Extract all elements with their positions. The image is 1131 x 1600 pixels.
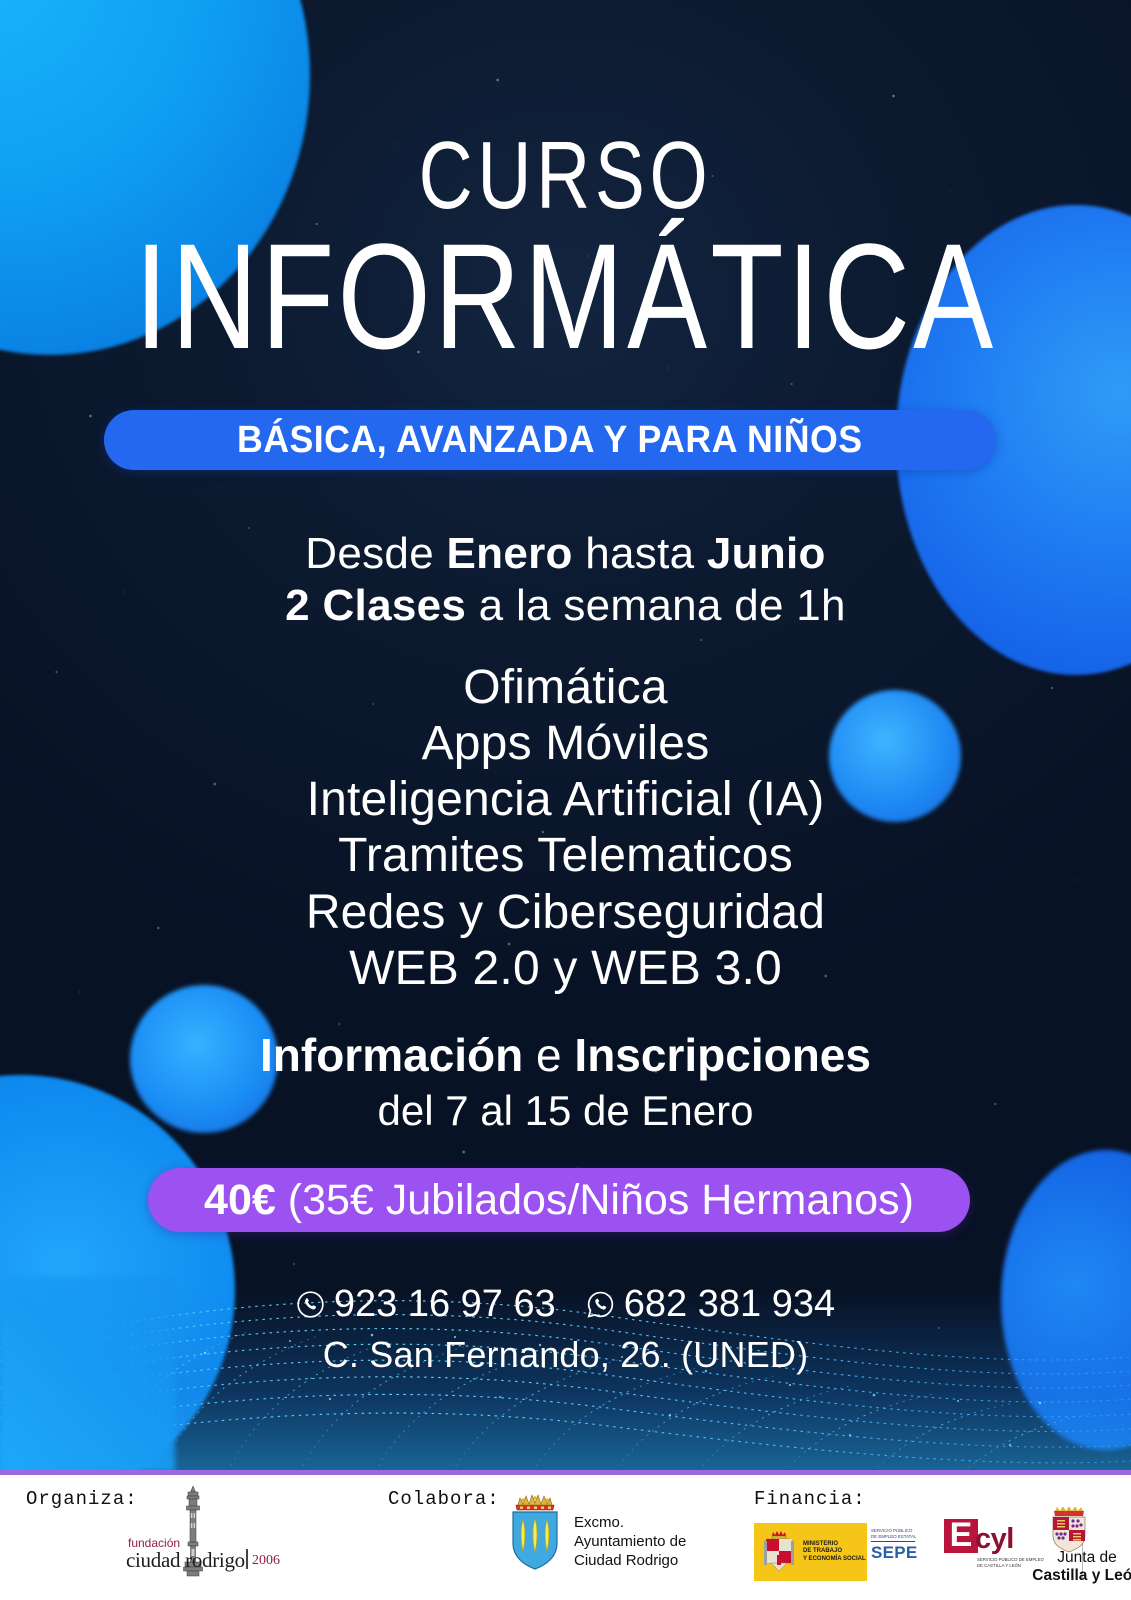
whatsapp-icon [586, 1290, 615, 1319]
junta-wordmark: Junta de Castilla y León [1012, 1549, 1131, 1586]
ayuntamiento-text: Excmo. Ayuntamiento de Ciudad Rodrigo [574, 1489, 686, 1571]
course-topic-item: WEB 2.0 y WEB 3.0 [0, 941, 1131, 997]
organiza-label: Organiza: [26, 1488, 138, 1510]
phone-number-1-text: 923 16 97 63 [334, 1283, 556, 1326]
subtitle-banner: BÁSICA, AVANZADA Y PARA NIÑOS [104, 410, 996, 470]
poster-content: CURSO INFORMÁTICA BÁSICA, AVANZADA Y PAR… [0, 0, 1131, 1472]
junta-line1: Junta de [1012, 1549, 1131, 1567]
sepe-sub-line2: DE EMPLEO ESTATAL [871, 1534, 919, 1540]
junta-castilla-leon-logo: Junta de Castilla y León [1012, 1507, 1131, 1587]
contact-block: 923 16 97 63 682 381 934 C. San Fernando… [0, 1283, 1131, 1376]
ecyl-e-letter: E [950, 1518, 973, 1552]
phone-icon [296, 1290, 325, 1319]
ministerio-trabajo-block: MINISTERIO DE TRABAJO Y ECONOMÍA SOCIAL [754, 1523, 867, 1581]
schedule-block: Desde Enero hasta Junio 2 Clases a la se… [0, 528, 1131, 632]
price-badge-text: 40€ (35€ Jubilados/Niños Hermanos) [204, 1176, 914, 1225]
ministerio-line3: Y ECONOMÍA SOCIAL [803, 1556, 866, 1564]
sepe-sub-line1: SERVICIO PÚBLICO [871, 1528, 919, 1534]
spain-coat-of-arms-icon [759, 1529, 799, 1575]
subtitle-banner-label: BÁSICA, AVANZADA Y PARA NIÑOS [237, 419, 863, 462]
logo-year-separator [246, 1549, 248, 1569]
address-text: C. San Fernando, 26. (UNED) [0, 1334, 1131, 1376]
ecyl-e-box: E [944, 1519, 978, 1553]
sponsor-footer: Organiza: [0, 1475, 1131, 1600]
junta-line2: Castilla y León [1012, 1567, 1131, 1585]
course-topic-item: Redes y Ciberseguridad [0, 885, 1131, 941]
phone-number-2[interactable]: 682 381 934 [586, 1283, 835, 1326]
coat-of-arms-icon [506, 1489, 564, 1571]
ministerio-text: MINISTERIO DE TRABAJO Y ECONOMÍA SOCIAL [803, 1541, 866, 1564]
ministerio-line2: DE TRABAJO [803, 1548, 866, 1556]
phone-number-1[interactable]: 923 16 97 63 [296, 1283, 556, 1326]
price-badge: 40€ (35€ Jubilados/Niños Hermanos) [148, 1168, 970, 1232]
footer-column-colabora: Colabora: [372, 1475, 744, 1600]
ayuntamiento-shield [506, 1489, 564, 1571]
sepe-wordmark: SEPE [871, 1543, 919, 1563]
course-topic-item: Tramites Telematicos [0, 828, 1131, 884]
phone-row: 923 16 97 63 682 381 934 [0, 1283, 1131, 1326]
fundacion-ciudad-rodrigo-logo: fundación ciudad rodrigo 2006 [124, 1485, 284, 1585]
registration-block: Información e Inscripciones del 7 al 15 … [0, 1028, 1131, 1138]
page-title-line1: CURSO [124, 128, 1006, 224]
course-topic-item: Inteligencia Artificial (IA) [0, 772, 1131, 828]
sepe-block: SERVICIO PÚBLICO DE EMPLEO ESTATAL SEPE [867, 1523, 922, 1581]
course-topics-list: Ofimática Apps Móviles Inteligencia Arti… [0, 660, 1131, 997]
schedule-line-frequency: 2 Clases a la semana de 1h [0, 580, 1131, 632]
registration-dates: del 7 al 15 de Enero [0, 1085, 1131, 1138]
financia-label: Financia: [754, 1488, 866, 1510]
registration-heading: Información e Inscripciones [0, 1028, 1131, 1083]
ecyl-cyl-letters: cyl [975, 1523, 1014, 1556]
title-block: CURSO INFORMÁTICA [0, 128, 1131, 374]
footer-column-organiza: Organiza: [0, 1475, 372, 1600]
course-topic-item: Apps Móviles [0, 716, 1131, 772]
phone-number-2-text: 682 381 934 [624, 1283, 835, 1326]
ayuntamiento-line3: Ciudad Rodrigo [574, 1551, 686, 1570]
ministerio-line1: MINISTERIO [803, 1541, 866, 1549]
sepe-rule [871, 1541, 915, 1542]
poster-canvas: CURSO INFORMÁTICA BÁSICA, AVANZADA Y PAR… [0, 0, 1131, 1600]
sepe-subtitle: SERVICIO PÚBLICO DE EMPLEO ESTATAL [871, 1528, 919, 1539]
ayuntamiento-line1: Excmo. [574, 1513, 686, 1532]
junta-shield-icon [1050, 1507, 1088, 1553]
logo-word-ciudad-rodrigo: ciudad rodrigo [126, 1548, 245, 1573]
page-title-line2: INFORMÁTICA [113, 218, 1018, 374]
ministerio-sepe-logo: MINISTERIO DE TRABAJO Y ECONOMÍA SOCIAL … [754, 1523, 922, 1581]
ayuntamiento-ciudad-rodrigo-logo: Excmo. Ayuntamiento de Ciudad Rodrigo [506, 1489, 736, 1589]
colabora-label: Colabora: [388, 1488, 500, 1510]
footer-column-financia: Financia: [744, 1475, 1131, 1600]
logo-year: 2006 [252, 1553, 280, 1569]
ayuntamiento-line2: Ayuntamiento de [574, 1532, 686, 1551]
schedule-line-months: Desde Enero hasta Junio [0, 528, 1131, 580]
course-topic-item: Ofimática [0, 660, 1131, 716]
